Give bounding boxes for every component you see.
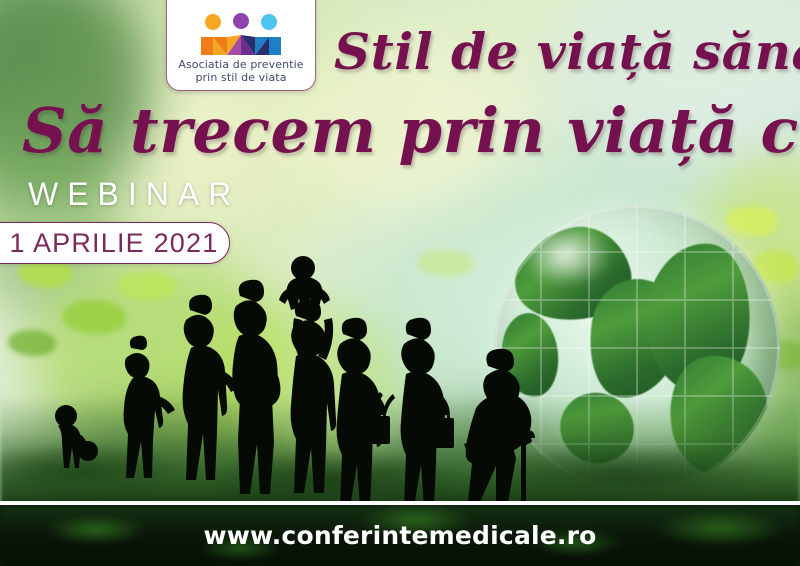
event-date-text: 1 APRILIE 2021 (0, 228, 218, 259)
silhouette-teen-girl (183, 295, 239, 480)
organization-logo-card: Asociatia de preventie prin stil de viat… (166, 0, 316, 91)
silhouette-young-girl (124, 336, 176, 478)
website-url[interactable]: www.conferintemedicale.ro (203, 521, 596, 550)
event-date-badge: 1 APRILIE 2021 (0, 222, 230, 264)
silhouette-elderly-woman-with-cane (464, 349, 535, 508)
title-line-2: Să trecem prin viață cu stil (22, 94, 800, 167)
silhouette-woman-with-shopping-bag (337, 318, 395, 507)
silhouette-toddler-with-ball (55, 405, 98, 468)
event-type-label: WEBINAR (28, 176, 240, 213)
logo-caption-line2: prin stil de viata (178, 71, 303, 84)
logo-caption-line1: Asociatia de preventie (178, 58, 303, 71)
silhouette-mother-lifting-child (279, 256, 336, 493)
poster-root: Asociatia de preventie prin stil de viat… (0, 0, 800, 566)
three-people-logo-icon (193, 13, 289, 55)
silhouette-woman-with-handbag (401, 318, 454, 507)
logo-caption: Asociatia de preventie prin stil de viat… (178, 58, 303, 84)
title-line-1: Stil de viață sănătos (334, 22, 800, 81)
footer-bar: www.conferintemedicale.ro (0, 505, 800, 566)
life-stages-silhouettes (0, 248, 800, 508)
silhouette-pregnant-woman (232, 280, 280, 494)
